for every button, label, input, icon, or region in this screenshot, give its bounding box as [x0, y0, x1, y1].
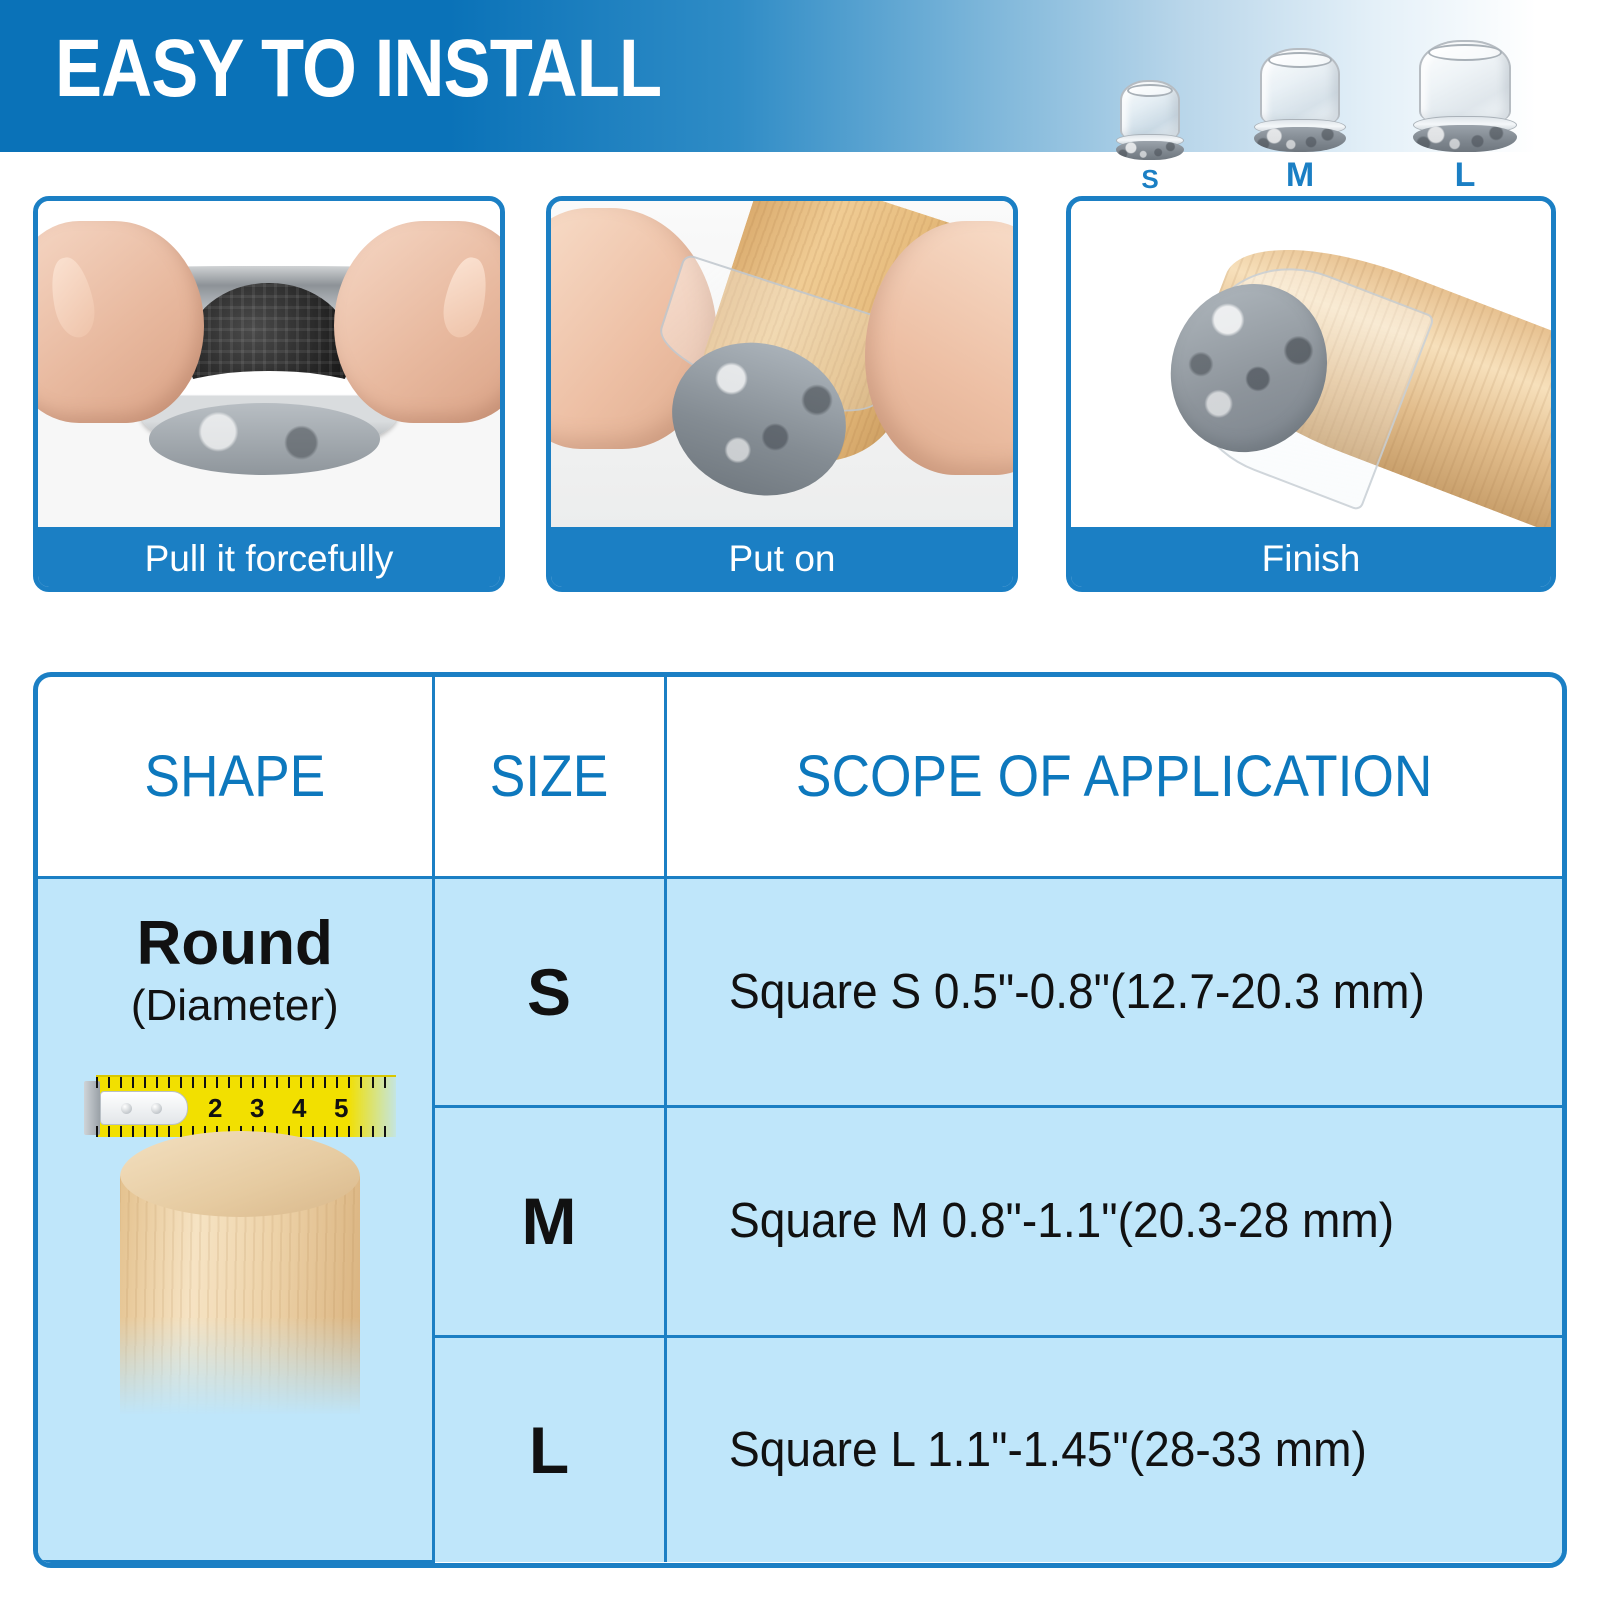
- shape-subtitle: (Diameter): [38, 983, 432, 1029]
- size-sample-label-m: M: [1235, 158, 1365, 192]
- cap-felt-pad: [1254, 127, 1346, 152]
- felt-pad: [149, 403, 380, 475]
- cap-felt-pad: [1116, 141, 1184, 160]
- step-photo-finish: [1071, 201, 1551, 527]
- step-caption-finish: Finish: [1071, 527, 1551, 591]
- shape-cell: Round (Diameter) 2 3 4 5: [38, 877, 433, 1562]
- column-header-size: SIZE: [442, 677, 655, 877]
- scope-cell-l: Square L 1.1"-1.45"(28-33 mm): [665, 1336, 1562, 1561]
- scope-text-l: Square L 1.1"-1.45"(28-33 mm): [667, 1422, 1509, 1478]
- step-card-pull: Pull it forcefully: [33, 196, 505, 592]
- step-caption-pull: Pull it forcefully: [38, 527, 500, 591]
- cap-dome: [1419, 40, 1511, 123]
- step-card-finish: Finish: [1066, 196, 1556, 592]
- size-sample-l: L: [1395, 40, 1535, 192]
- tape-number-3: 3: [250, 1095, 264, 1121]
- cap-dome: [1120, 80, 1180, 139]
- round-wood-leg-illustration: [120, 1131, 360, 1421]
- cap-felt-pad: [1413, 125, 1517, 152]
- silicone-cap-medium-icon: [1254, 48, 1346, 152]
- measuring-tape-icon: 2 3 4 5: [96, 1075, 396, 1137]
- size-samples-group: S M L: [1075, 12, 1535, 192]
- column-header-scope: SCOPE OF APPLICATION: [701, 677, 1526, 877]
- size-sample-label-s: S: [1095, 166, 1205, 192]
- step-caption-put-on: Put on: [551, 527, 1013, 591]
- size-letter-m: M: [435, 1183, 664, 1259]
- size-cell-s: S: [433, 877, 665, 1107]
- size-cell-l: L: [433, 1336, 665, 1561]
- size-sample-s: S: [1095, 80, 1205, 192]
- size-letter-l: L: [435, 1412, 664, 1488]
- step-photo-pull-it-forcefully: [38, 201, 500, 527]
- size-letter-s: S: [435, 954, 664, 1030]
- install-steps-group: Pull it forcefully Put on Finish: [0, 196, 1600, 596]
- step-card-put-on: Put on: [546, 196, 1018, 592]
- silicone-cap-small-icon: [1116, 80, 1184, 160]
- scope-text-s: Square S 0.5"-0.8"(12.7-20.3 mm): [667, 964, 1509, 1020]
- silicone-cap-large-icon: [1413, 40, 1517, 152]
- size-sample-label-l: L: [1395, 158, 1535, 192]
- table-header-row: SHAPE SIZE SCOPE OF APPLICATION: [38, 677, 1562, 877]
- size-sample-m: M: [1235, 48, 1365, 192]
- tape-number-2: 2: [208, 1095, 222, 1121]
- table-row: Round (Diameter) 2 3 4 5: [38, 877, 1562, 1107]
- step-photo-put-on: [551, 201, 1013, 527]
- size-cell-m: M: [433, 1107, 665, 1337]
- scope-cell-m: Square M 0.8"-1.1"(20.3-28 mm): [665, 1107, 1562, 1337]
- wood-leg-top-face: [120, 1131, 360, 1217]
- scope-cell-s: Square S 0.5"-0.8"(12.7-20.3 mm): [665, 877, 1562, 1107]
- tape-number-5: 5: [334, 1095, 348, 1121]
- cap-dome: [1260, 48, 1341, 125]
- page-title: EASY TO INSTALL: [55, 18, 661, 121]
- shape-title: Round: [38, 911, 432, 976]
- tape-clip: [100, 1091, 188, 1125]
- left-thumb: [45, 254, 100, 341]
- tape-number-4: 4: [292, 1095, 306, 1121]
- column-header-shape: SHAPE: [54, 677, 417, 877]
- right-thumb: [438, 254, 493, 341]
- specification-table: SHAPE SIZE SCOPE OF APPLICATION Round (D…: [33, 672, 1567, 1568]
- tape-ticks-top: [96, 1077, 396, 1088]
- scope-text-m: Square M 0.8"-1.1"(20.3-28 mm): [667, 1193, 1509, 1249]
